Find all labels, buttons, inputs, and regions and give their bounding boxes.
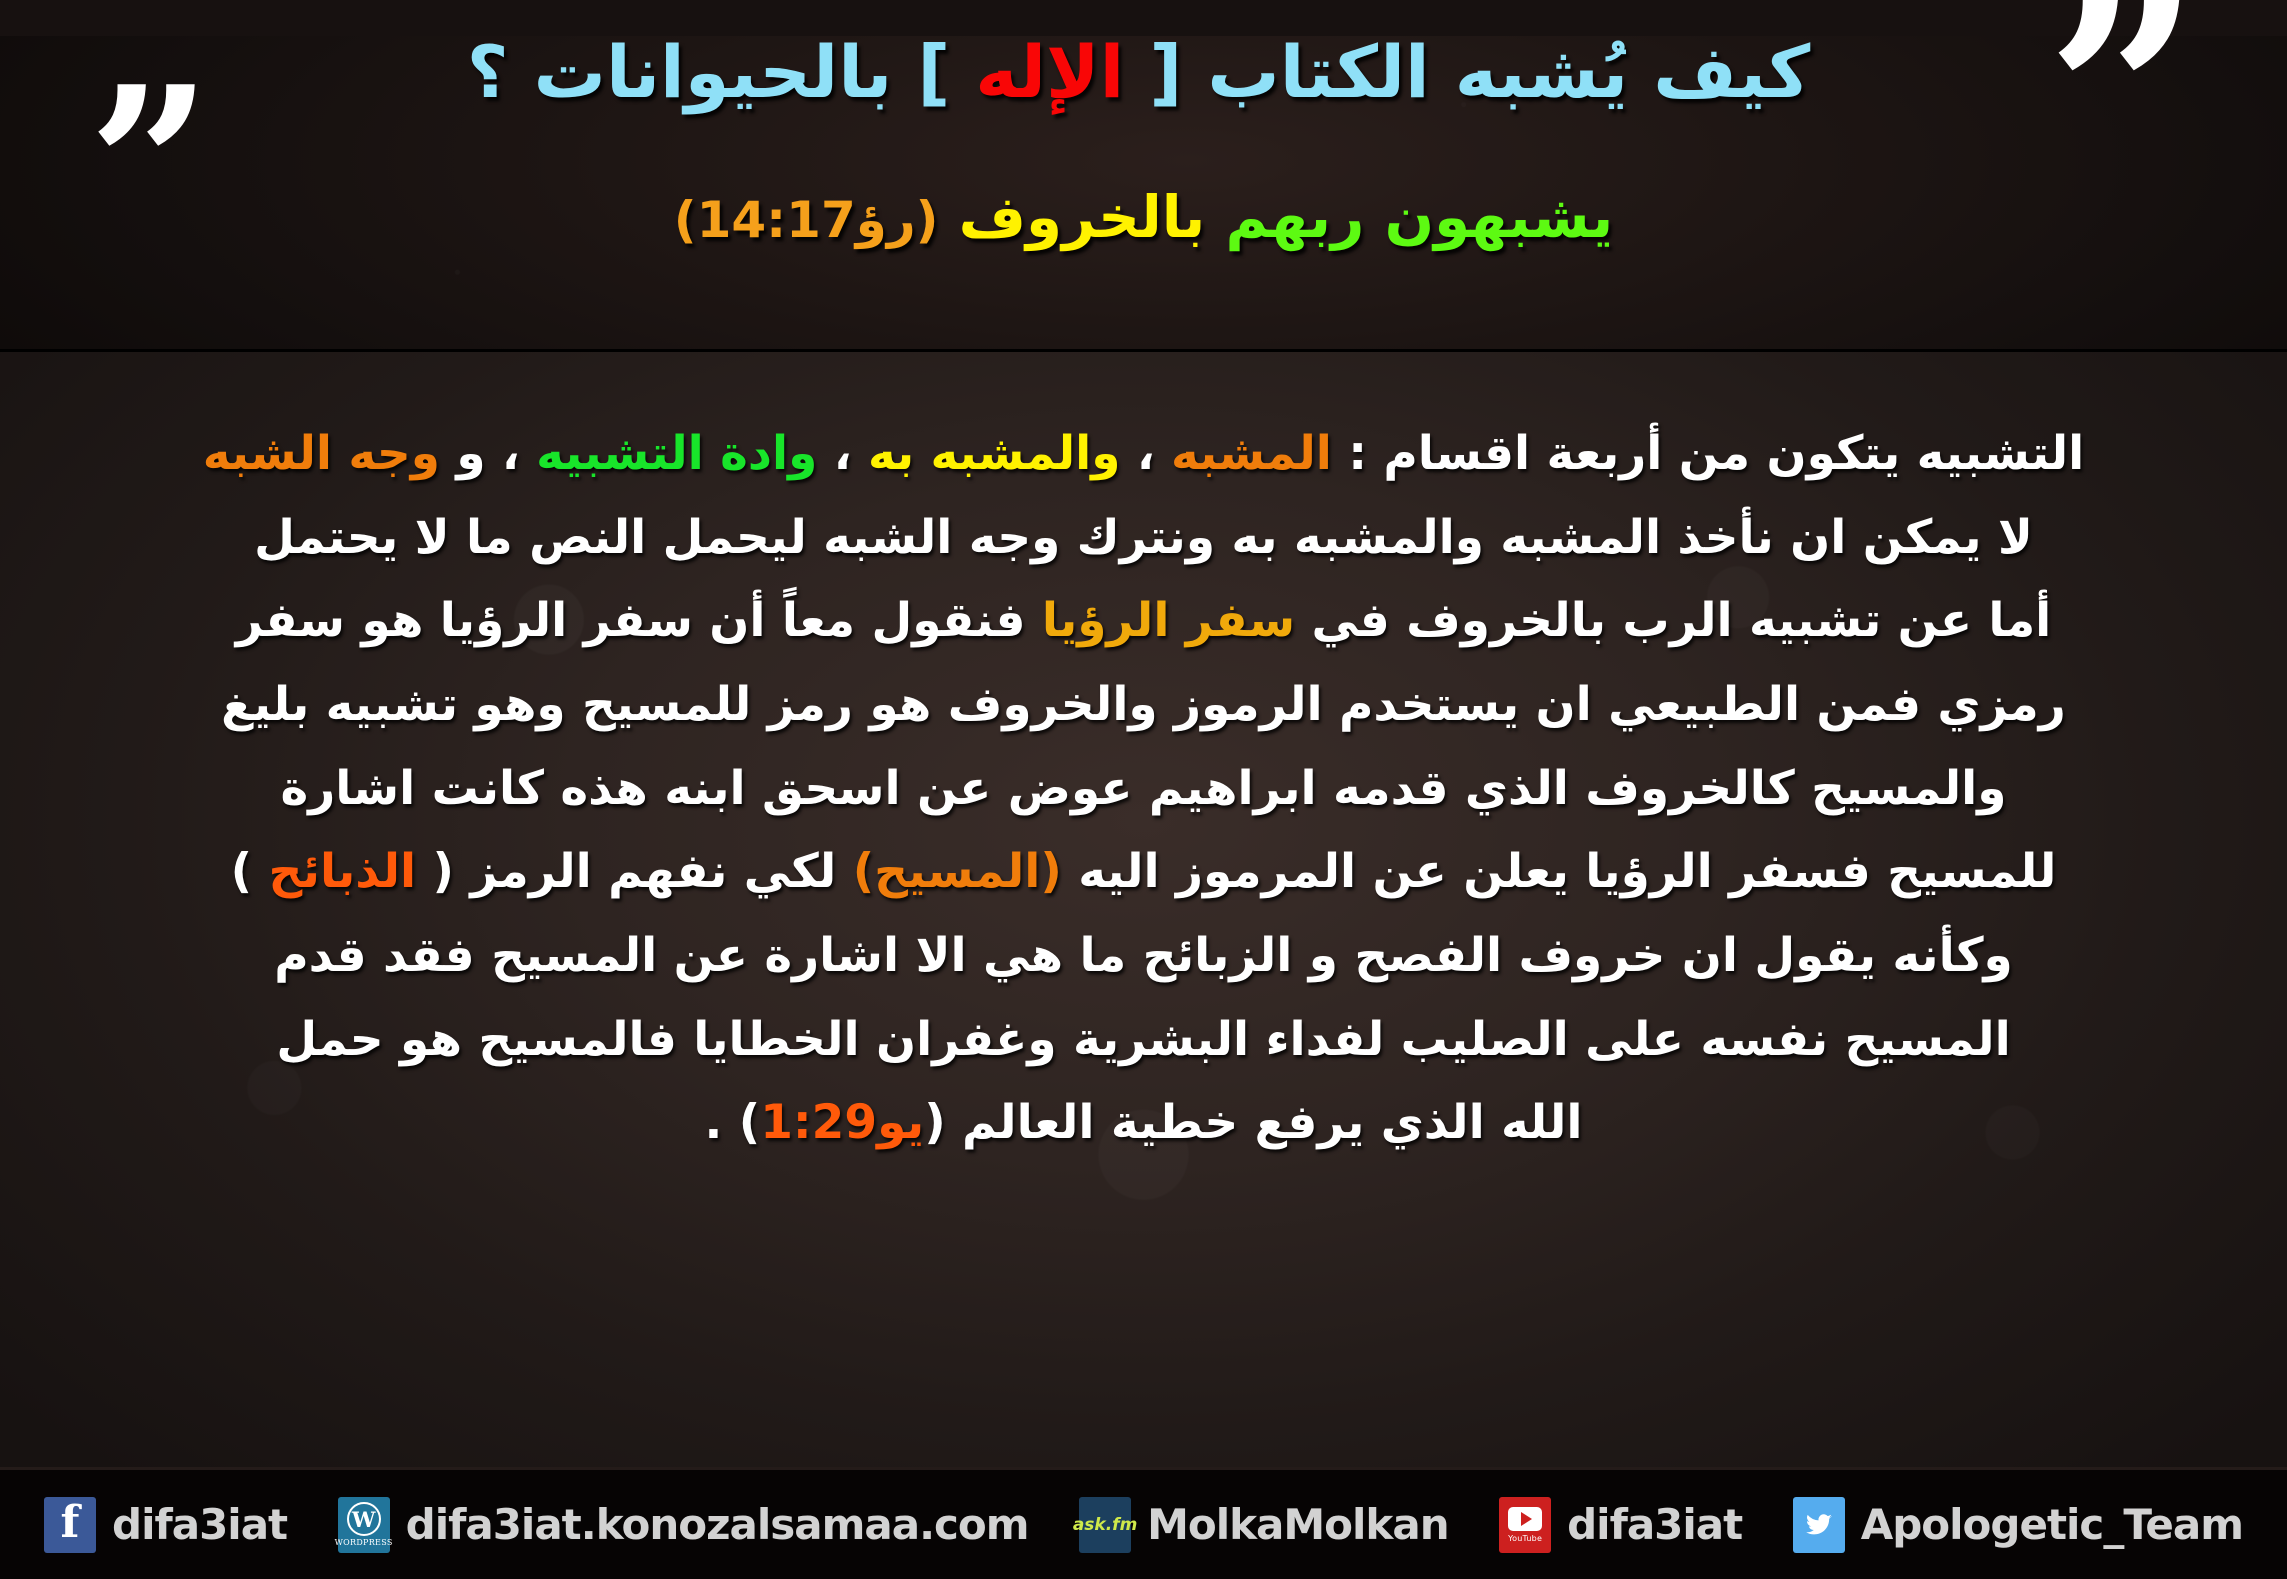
page-subtitle-part-a: يشبهون ربهم — [1205, 183, 1613, 251]
body-content-area: التشبيه يتكون من أربعة اقسام : المشبه ، … — [0, 352, 2287, 1467]
page-subtitle-reference: (رؤ14:17) — [674, 191, 939, 249]
body-line-1-term-1: المشبه — [1171, 426, 1332, 481]
body-line-3-highlight: سفر الرؤيا — [1042, 593, 1295, 648]
body-line-3-c: فنقول معاً أن سفر الرؤيا هو سفر — [236, 593, 1042, 648]
body-line-1-sep-1: ، — [1120, 426, 1171, 481]
wordpress-icon: W WORDPRESS — [338, 1497, 390, 1553]
youtube-play-box — [1508, 1507, 1542, 1531]
body-line-5: والمسيح كالخروف الذي قدمه ابراهيم عوض عن… — [34, 747, 2253, 831]
body-line-1: التشبيه يتكون من أربعة اقسام : المشبه ، … — [34, 412, 2253, 496]
body-line-1-term-4: وجه الشبه — [203, 426, 440, 481]
page-subtitle: يشبهون ربهم بالخروف (رؤ14:17) — [300, 183, 1987, 251]
body-line-3: أما عن تشبيه الرب بالخروف في سفر الرؤيا … — [34, 579, 2253, 663]
social-item-wordpress[interactable]: W WORDPRESS difa3iat.konozalsamaa.com — [338, 1497, 1029, 1553]
social-item-facebook[interactable]: f difa3iat — [44, 1497, 287, 1553]
quote-mark-small-icon: ” — [88, 58, 212, 273]
body-line-6-highlight-1: (المسيح) — [853, 844, 1062, 899]
social-label-facebook: difa3iat — [112, 1500, 287, 1549]
twitter-icon — [1793, 1497, 1845, 1553]
body-line-9-reference: يو1:29 — [760, 1095, 924, 1150]
wordpress-wordmark: WORDPRESS — [335, 1538, 393, 1547]
social-item-askfm[interactable]: ask.fm MolkaMolkan — [1079, 1497, 1449, 1553]
body-line-6-e: ) — [231, 844, 269, 899]
social-label-wordpress: difa3iat.konozalsamaa.com — [406, 1500, 1029, 1549]
body-line-6-highlight-2: الذبائح — [268, 844, 416, 899]
body-line-1-sep-3: ، و — [440, 426, 536, 481]
body-line-7: وكأنه يقول ان خروف الفصح و الزبائح ما هي… — [34, 914, 2253, 998]
page-title-part-b: ] بالحيوانات ؟ — [467, 30, 976, 114]
page-title-part-a: كيف يُشبه الكتاب [ — [1124, 30, 1810, 114]
askfm-wordmark: ask.fm — [1073, 1515, 1137, 1535]
askfm-icon: ask.fm — [1079, 1497, 1131, 1553]
body-line-6-c: لكي نفهم الرمز ( — [416, 844, 853, 899]
youtube-wordmark: YouTube — [1508, 1534, 1542, 1543]
page-title-highlight: الإله — [975, 30, 1124, 114]
body-line-8: المسيح نفسه على الصليب لفداء البشرية وغف… — [34, 998, 2253, 1082]
social-label-youtube: difa3iat — [1567, 1500, 1742, 1549]
body-line-1-term-3: وادة التشبيه — [536, 426, 817, 481]
body-line-1-a: التشبيه يتكون من أربعة اقسام : — [1332, 426, 2084, 481]
page-title: كيف يُشبه الكتاب [ الإله ] بالحيوانات ؟ — [240, 30, 2037, 114]
body-line-6-a: للمسيح فسفر الرؤيا يعلن عن المرموز اليه — [1062, 844, 2057, 899]
poster-root: ” ” كيف يُشبه الكتاب [ الإله ] بالحيوانا… — [0, 0, 2287, 1579]
social-label-twitter: Apologetic_Team — [1861, 1500, 2243, 1549]
facebook-icon: f — [44, 1497, 96, 1553]
body-line-9: الله الذي يرفع خطية العالم (يو1:29) . — [34, 1081, 2253, 1165]
youtube-icon: YouTube — [1499, 1497, 1551, 1553]
body-line-1-sep-2: ، — [817, 426, 868, 481]
page-subtitle-highlight: بالخروف — [959, 183, 1206, 251]
body-line-9-a: الله الذي يرفع خطية العالم ( — [924, 1095, 1582, 1150]
body-line-2: لا يمكن ان نأخذ المشبه والمشبه به ونترك … — [34, 496, 2253, 580]
body-line-4: رمزي فمن الطبيعي ان يستخدم الرموز والخرو… — [34, 663, 2253, 747]
body-line-1-term-2: والمشبه به — [868, 426, 1121, 481]
body-line-3-a: أما عن تشبيه الرب بالخروف في — [1295, 593, 2051, 648]
social-item-youtube[interactable]: YouTube difa3iat — [1499, 1497, 1742, 1553]
header-banner: ” ” كيف يُشبه الكتاب [ الإله ] بالحيوانا… — [0, 0, 2287, 352]
social-item-twitter[interactable]: Apologetic_Team — [1793, 1497, 2243, 1553]
social-label-askfm: MolkaMolkan — [1147, 1500, 1449, 1549]
facebook-f-glyph: f — [61, 1501, 80, 1545]
quote-mark-large-icon: ” — [2046, 0, 2201, 230]
play-triangle-icon — [1521, 1512, 1532, 1526]
article-text: التشبيه يتكون من أربعة اقسام : المشبه ، … — [34, 412, 2253, 1165]
wordpress-w-glyph: W — [347, 1502, 381, 1536]
body-line-9-c: ) . — [704, 1095, 760, 1150]
body-line-6: للمسيح فسفر الرؤيا يعلن عن المرموز اليه … — [34, 830, 2253, 914]
social-footer: Apologetic_Team YouTube difa3iat ask.fm … — [0, 1467, 2287, 1579]
